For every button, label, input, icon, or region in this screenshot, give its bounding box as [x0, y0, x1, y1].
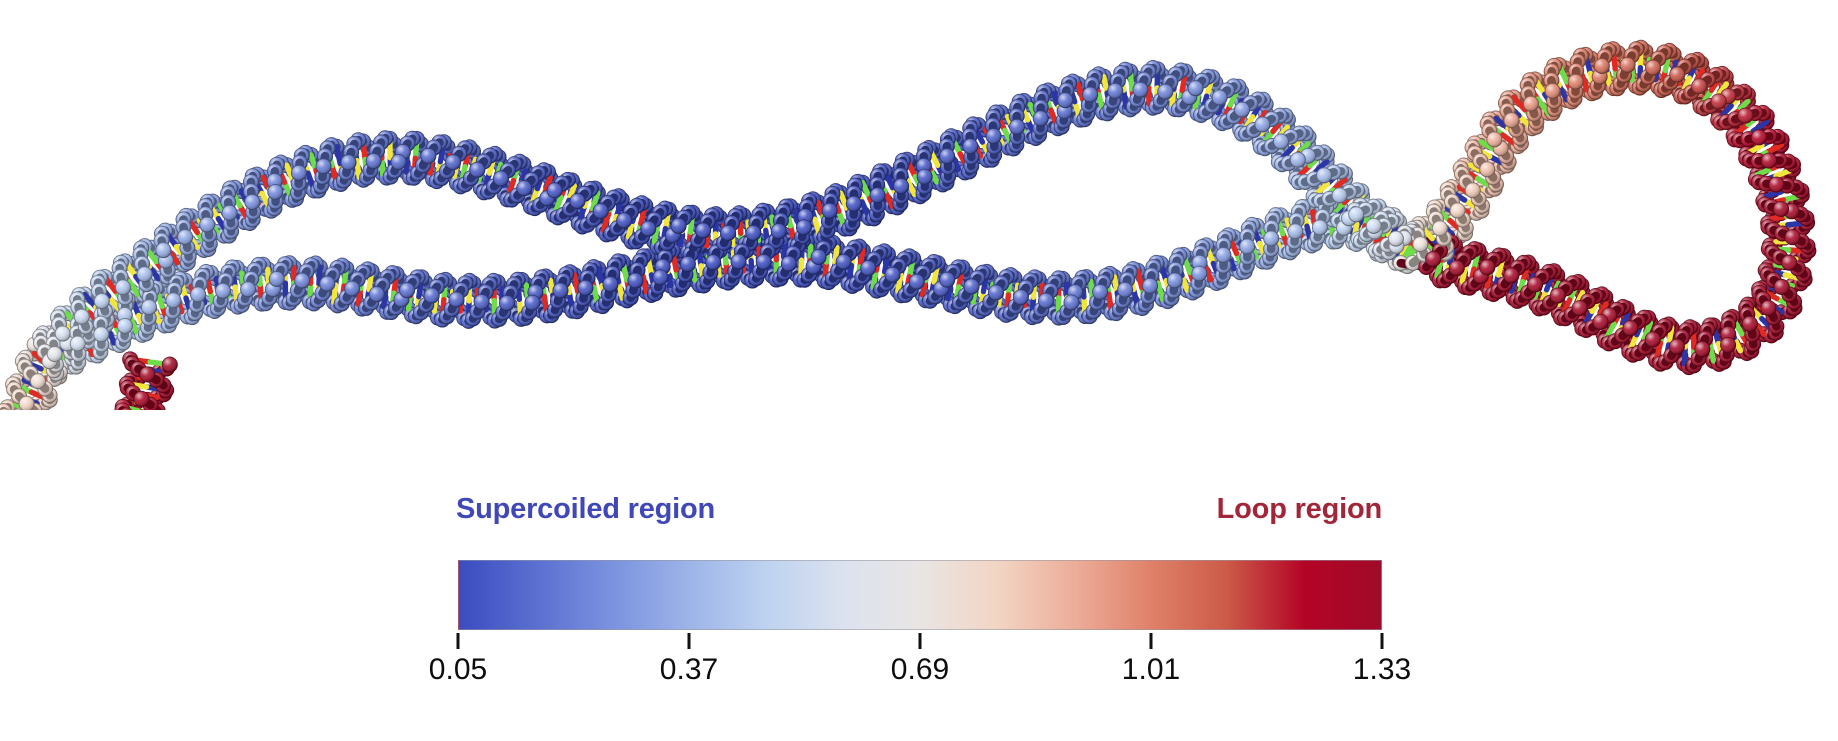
dna-residue-bead [400, 283, 415, 298]
dna-residue-bead [94, 327, 109, 342]
dna-residue-bead [156, 243, 171, 258]
dna-residue-bead [1058, 93, 1073, 108]
dna-residue-bead [1594, 58, 1609, 73]
dna-residue-bead [553, 283, 568, 298]
dna-base-pair-rung [643, 277, 646, 292]
dna-residue-bead [1774, 201, 1789, 216]
dna-structure-panel [0, 0, 1838, 410]
dna-residue-bead [245, 194, 260, 209]
dna-residue-bead [1738, 108, 1753, 123]
dna-residue-bead [1093, 284, 1108, 299]
dna-residue-bead [547, 183, 562, 198]
dna-residue-bead [1192, 266, 1207, 281]
dna-base-pair-rung [268, 269, 269, 283]
dna-residue-bead [178, 230, 193, 245]
dna-residue-bead [1487, 132, 1502, 147]
dna-residue-bead [811, 250, 826, 265]
dna-residue-bead [940, 149, 955, 164]
dna-residue-bead [671, 218, 686, 233]
dna-residue-bead [940, 272, 955, 287]
dna-residue-bead [1188, 81, 1203, 96]
dna-residue-bead [1290, 152, 1305, 167]
dna-residue-bead [1064, 295, 1079, 310]
dna-residue-bead [117, 318, 132, 333]
dna-residue-bead [822, 203, 837, 218]
dna-residue-bead [1711, 94, 1726, 109]
dna-residue-bead [771, 224, 786, 239]
dna-residue-bead [1158, 84, 1173, 99]
dna-residue-bead [137, 267, 152, 282]
dna-base-pair-rung [357, 161, 359, 178]
dna-residue-bead [1033, 111, 1048, 126]
dna-residue-bead [1317, 168, 1332, 183]
dna-base-pair-rung [336, 147, 340, 164]
dna-residue-bead [268, 184, 283, 199]
dna-residue-bead [1721, 337, 1736, 352]
dna-base-pair-rung [406, 158, 407, 172]
dna-residue-bead [525, 295, 540, 310]
dna-residue-bead [1312, 220, 1327, 235]
dna-residue-bead [1167, 273, 1182, 288]
dna-residue-bead [241, 282, 256, 297]
dna-residue-bead [142, 300, 157, 315]
dna-residue-bead [1212, 90, 1227, 105]
figure-canvas: Supercoiled region Loop region 0.050.370… [0, 0, 1838, 741]
dna-residue-bead [1480, 260, 1495, 275]
dna-residue-bead [1568, 74, 1583, 89]
dna-residue-bead [1572, 301, 1587, 316]
dna-residue-bead [517, 181, 532, 196]
dna-residue-bead [628, 273, 643, 288]
dna-residue-bead [796, 220, 811, 235]
dna-residue-bead [1480, 162, 1495, 177]
dna-residue-bead [1785, 230, 1800, 245]
dna-helix-render [0, 40, 1816, 410]
dna-base-pair-rung [1091, 281, 1092, 296]
dna-residue-bead [781, 256, 796, 271]
dna-residue-bead [1413, 237, 1428, 252]
dna-base-pair-rung [1710, 346, 1713, 361]
dna-residue-bead [391, 155, 406, 170]
dna-residue-bead [1038, 293, 1053, 308]
dna-residue-bead [269, 272, 284, 287]
dna-residue-bead [369, 287, 384, 302]
dna-base-pair-rung [319, 267, 320, 284]
dna-residue-bead [1692, 79, 1707, 94]
dna-residue-bead [134, 391, 149, 406]
dna-residue-bead [424, 288, 439, 303]
dna-residue-bead [55, 326, 70, 341]
dna-residue-bead [1623, 321, 1638, 336]
dna-residue-bead [1620, 57, 1635, 72]
dna-residue-bead [162, 357, 177, 372]
dna-residue-bead [1742, 316, 1757, 331]
dna-residue-bead [1449, 261, 1464, 276]
dna-residue-bead [680, 256, 695, 271]
dna-residue-bead [696, 223, 711, 238]
dna-residue-bead [641, 221, 656, 236]
dna-residue-bead [1695, 342, 1710, 357]
dna-residue-bead [291, 165, 306, 180]
dna-residue-bead [964, 279, 979, 294]
dna-residue-bead [909, 274, 924, 289]
dna-residue-bead [1216, 248, 1231, 263]
dna-base-pair-rung [575, 275, 578, 291]
dna-residue-bead [1593, 314, 1608, 329]
dna-residue-bead [1504, 268, 1519, 283]
dna-residue-bead [917, 169, 932, 184]
dna-structure-svg [0, 0, 1838, 410]
dna-residue-bead [1273, 134, 1288, 149]
dna-residue-bead [499, 296, 514, 311]
dna-residue-bead [653, 270, 668, 285]
dna-residue-bead [421, 148, 436, 163]
